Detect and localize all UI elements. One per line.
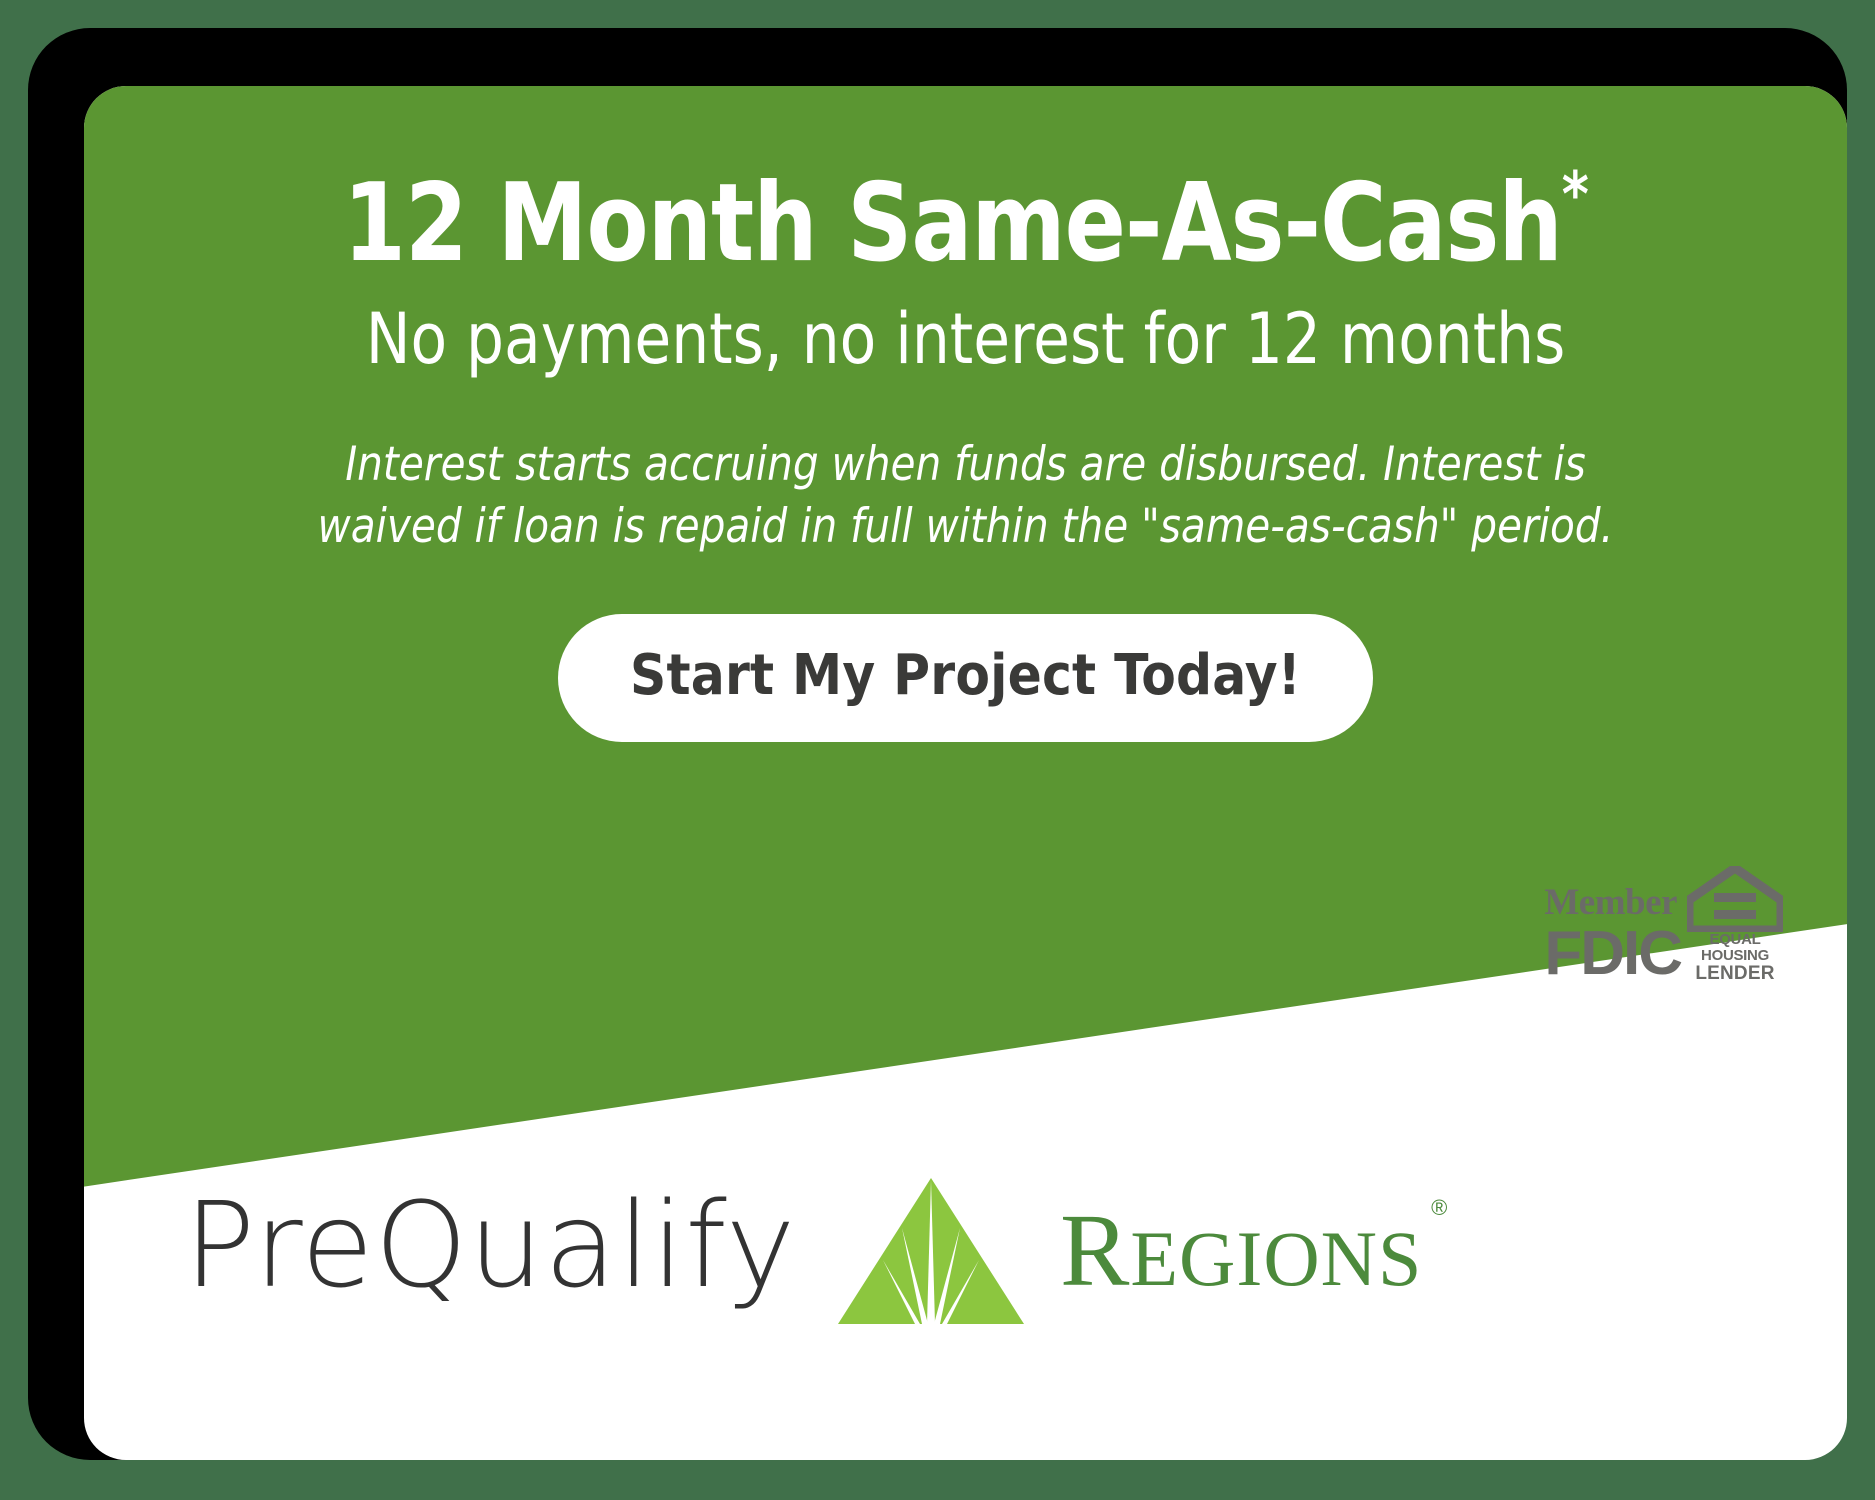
fdic-acronym-label: FDIC — [1544, 923, 1681, 985]
equal-housing-line-1: EQUAL HOUSING — [1687, 932, 1783, 964]
equal-housing-lender-mark: EQUAL HOUSING LENDER — [1687, 866, 1783, 983]
equal-housing-line-2: LENDER — [1695, 964, 1774, 984]
subheadline: No payments, no interest for 12 months — [128, 304, 1803, 374]
regions-wordmark-rest: EGIONS — [1130, 1215, 1422, 1302]
registered-trademark-icon: ® — [1431, 1197, 1448, 1219]
headline-text: 12 Month Same-As-Cash — [343, 161, 1562, 286]
start-my-project-button[interactable]: Start My Project Today! — [558, 614, 1373, 742]
regions-pyramid-icon — [836, 1176, 1026, 1326]
disclaimer-text: Interest starts accruing when funds are … — [225, 434, 1706, 558]
headline-footnote-asterisk: * — [1562, 158, 1588, 231]
disclaimer-line-2: waived if loan is repaid in full within … — [225, 496, 1706, 558]
regions-logo: REGIONS ® — [836, 1176, 1422, 1326]
card-black-frame: 12 Month Same-As-Cash* No payments, no i… — [28, 28, 1847, 1460]
promo-banner-stage: 12 Month Same-As-Cash* No payments, no i… — [0, 0, 1875, 1500]
equal-housing-lender-house-icon — [1687, 866, 1783, 932]
regions-wordmark-lead: R — [1060, 1193, 1130, 1308]
fdic-member-label: Member — [1544, 884, 1677, 921]
regions-wordmark: REGIONS ® — [1060, 1199, 1422, 1303]
cta-container: Start My Project Today! — [84, 614, 1847, 742]
disclaimer-line-1: Interest starts accruing when funds are … — [225, 434, 1706, 496]
promo-card: 12 Month Same-As-Cash* No payments, no i… — [84, 86, 1847, 1460]
status-badge: Member FDIC EQUAL HOUSING LENDER — [1544, 866, 1783, 985]
prequalify-wordmark: PreQualify — [184, 1186, 796, 1304]
member-fdic-text: Member FDIC — [1544, 884, 1681, 985]
page-title: 12 Month Same-As-Cash* — [146, 164, 1786, 278]
